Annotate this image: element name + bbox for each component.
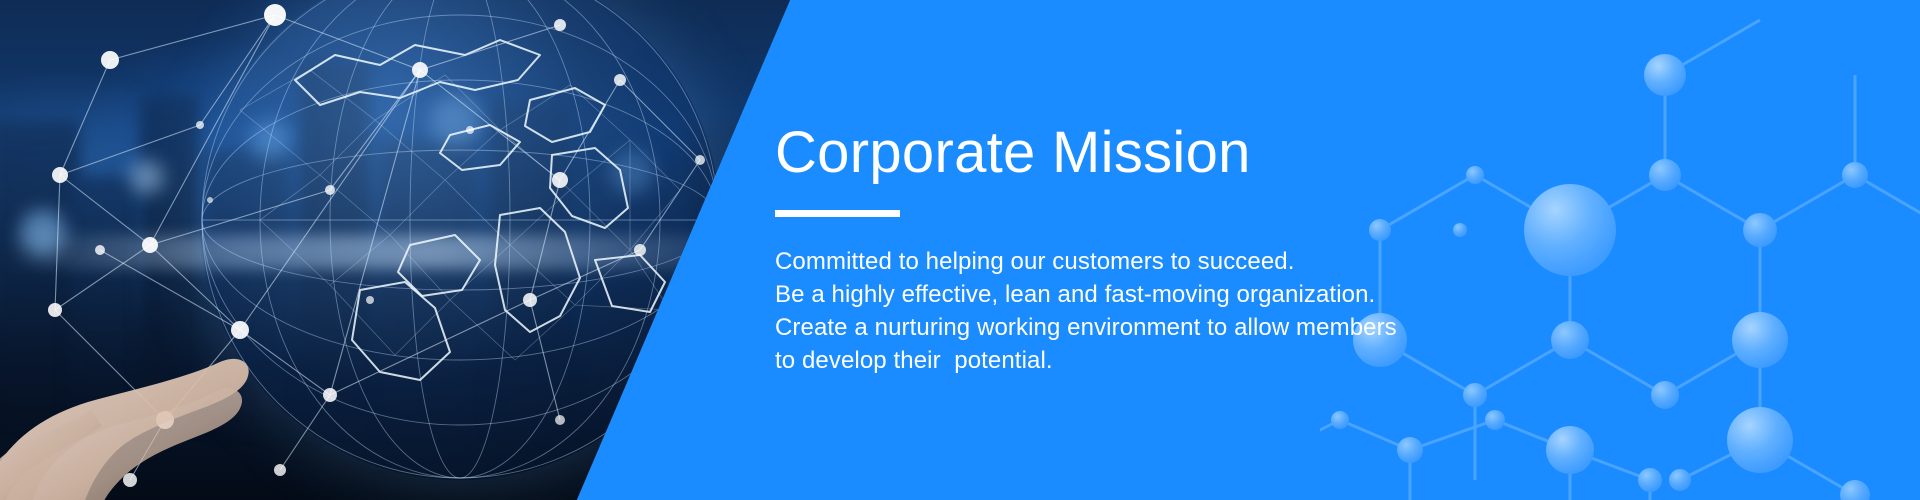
title-divider [775,210,900,217]
mission-line: to develop their potential. [775,344,1675,377]
corporate-mission-banner: Corporate Mission Committed to helping o… [0,0,1920,500]
mission-line: Be a highly effective, lean and fast-mov… [775,278,1675,311]
mission-statement-list: Committed to helping our customers to su… [775,245,1675,377]
mission-line: Create a nurturing working environment t… [775,311,1675,344]
page-title: Corporate Mission [775,123,1675,184]
mission-line: Committed to helping our customers to su… [775,245,1675,278]
hand-illustration [0,250,390,500]
mission-content: Corporate Mission Committed to helping o… [775,0,1675,500]
